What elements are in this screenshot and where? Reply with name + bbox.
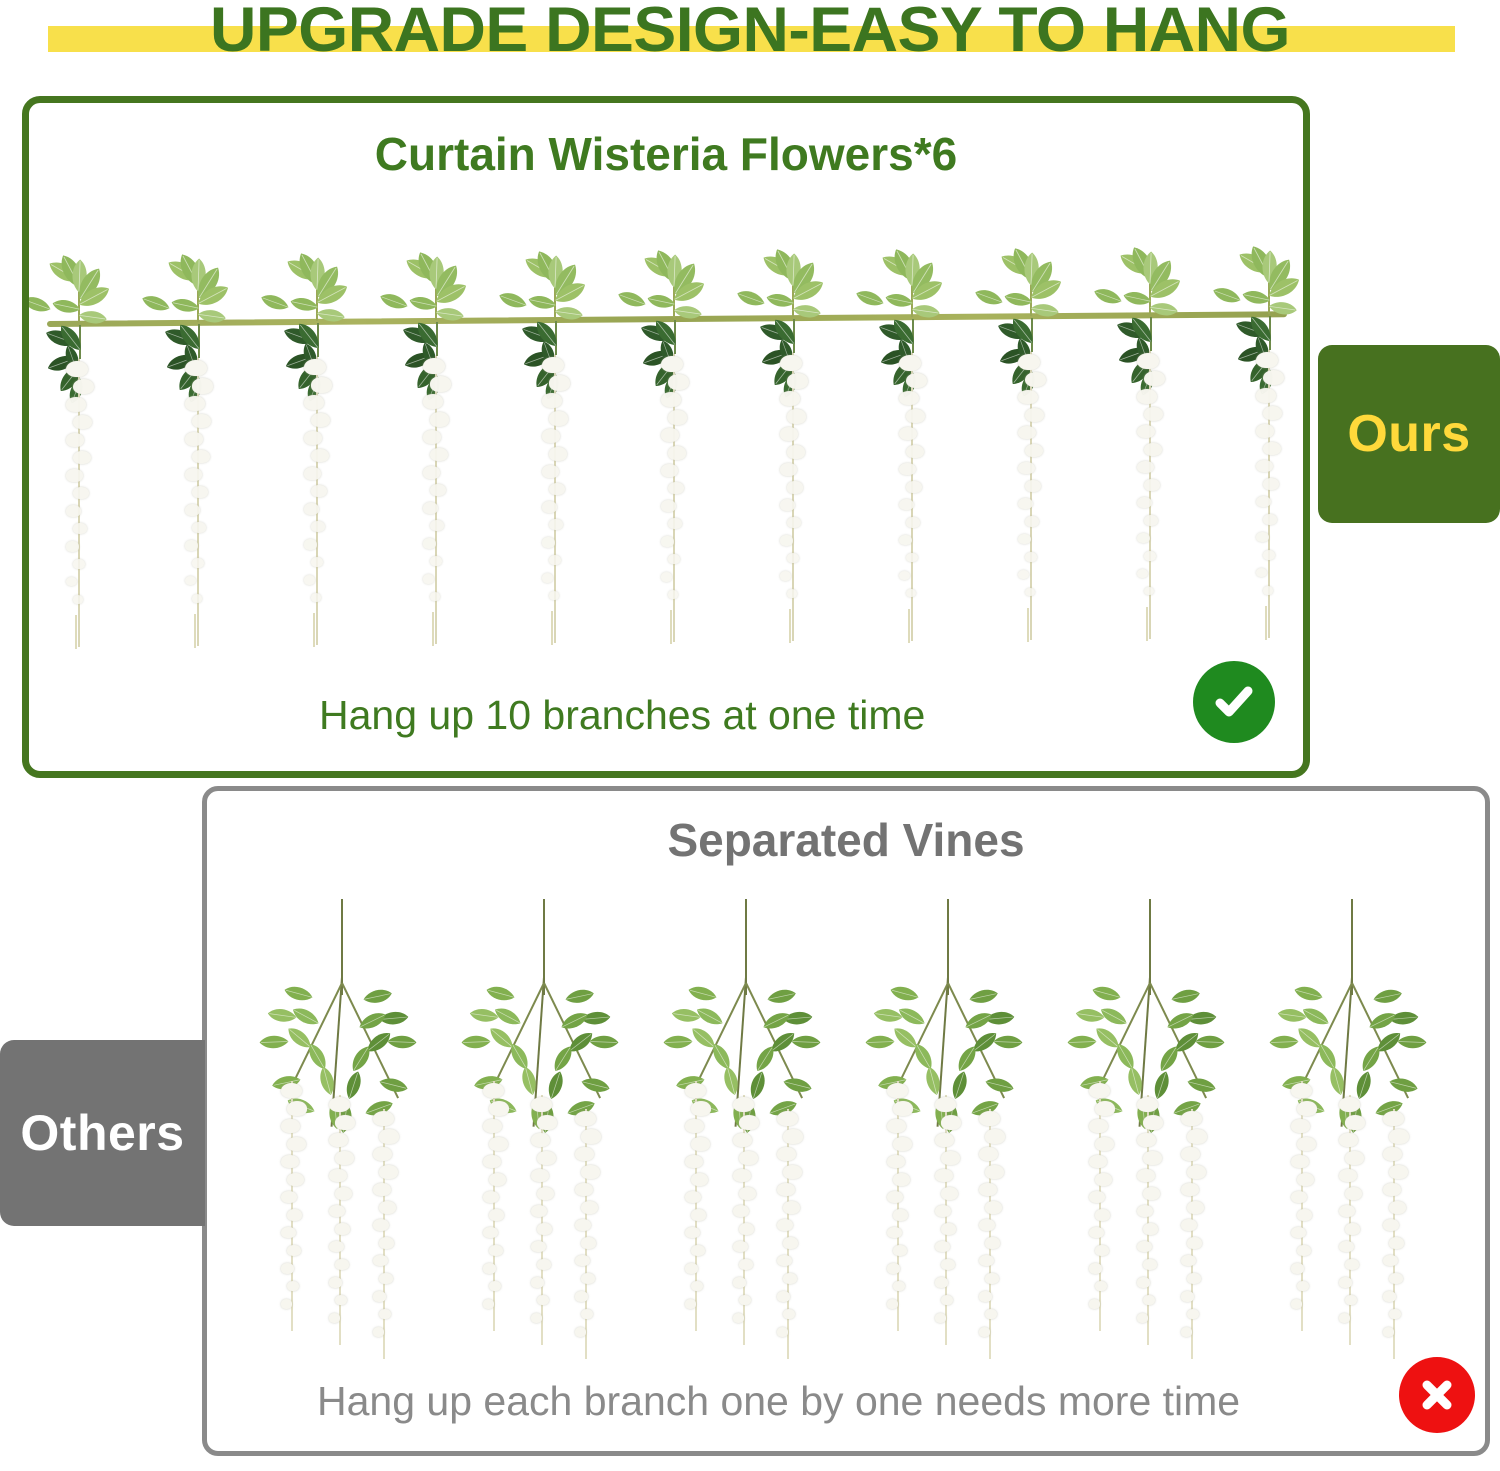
leaf-cluster-upper xyxy=(269,249,365,325)
separated-vines-image xyxy=(207,899,1485,1369)
leaf-cluster-upper xyxy=(1102,243,1198,319)
check-circle-icon xyxy=(1193,661,1275,743)
ours-tab-label: Ours xyxy=(1347,404,1470,464)
leaf-cluster-upper xyxy=(983,244,1079,320)
page-title: UPGRADE DESIGN-EASY TO HANG xyxy=(0,0,1500,66)
others-heading: Separated Vines xyxy=(207,813,1485,867)
leaf-cluster-upper xyxy=(31,251,127,327)
separated-vine xyxy=(873,899,1023,1369)
leaf-cluster-upper xyxy=(507,247,603,323)
others-tab-label: Others xyxy=(20,1104,184,1162)
leaf-cluster-upper xyxy=(388,248,484,324)
others-caption: Hang up each branch one by one needs mor… xyxy=(317,1378,1240,1425)
ours-caption: Hang up 10 branches at one time xyxy=(319,692,925,739)
ours-panel: Curtain Wisteria Flowers*6 Hang up 10 br… xyxy=(22,96,1310,778)
leaf-cluster-upper xyxy=(864,245,960,321)
separated-vine xyxy=(1277,899,1427,1369)
ours-tab: Ours xyxy=(1318,345,1500,523)
leaf-cluster-upper xyxy=(745,245,841,321)
others-panel: Separated Vines Hang up each branch one … xyxy=(202,786,1490,1456)
leaf-cluster-upper xyxy=(626,246,722,322)
ours-heading: Curtain Wisteria Flowers*6 xyxy=(29,127,1303,181)
x-circle-icon xyxy=(1399,1357,1475,1433)
separated-vine xyxy=(469,899,619,1369)
separated-vine xyxy=(671,899,821,1369)
leaf-cluster-upper xyxy=(1221,243,1303,318)
separated-vine xyxy=(267,899,417,1369)
separated-vine xyxy=(1075,899,1225,1369)
curtain-wisteria-garland-image xyxy=(29,243,1303,743)
leaf-cluster-upper xyxy=(150,250,246,326)
others-tab: Others xyxy=(0,1040,205,1226)
